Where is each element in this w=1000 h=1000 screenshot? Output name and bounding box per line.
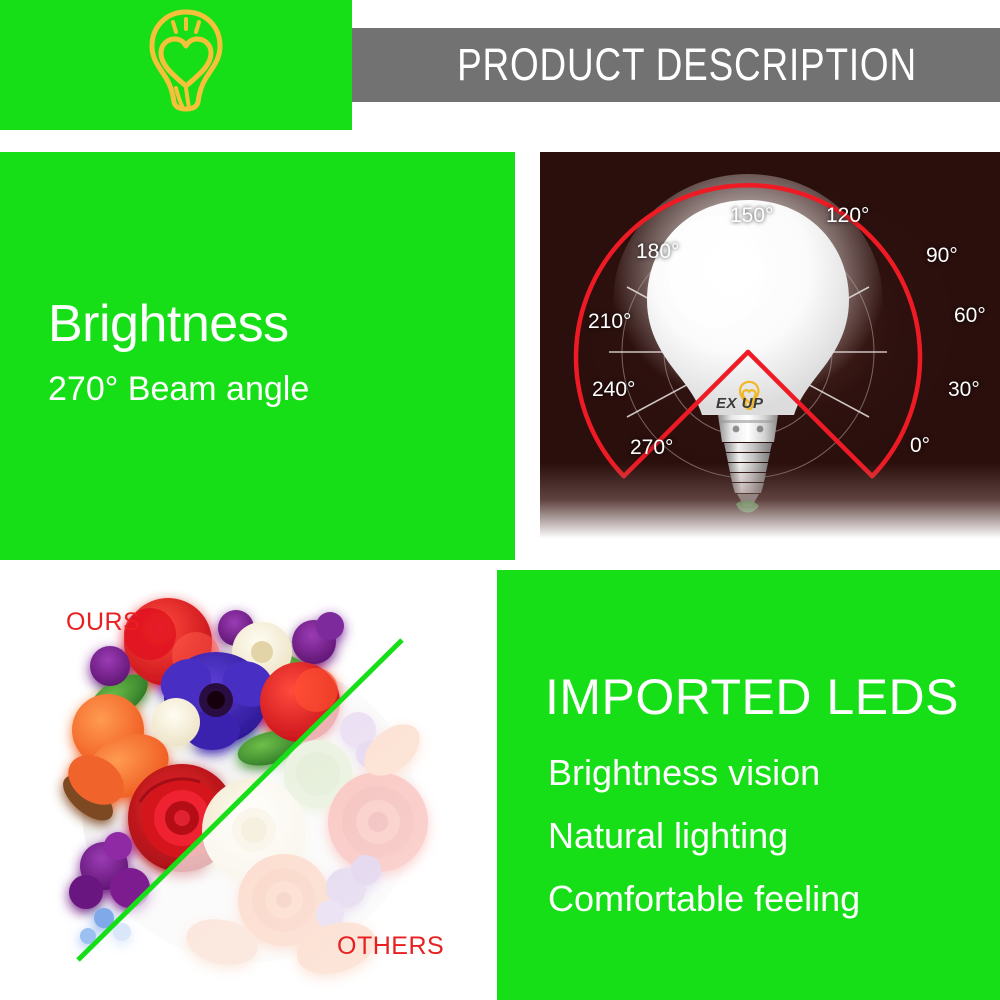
angle-label-120: 120° — [826, 204, 869, 228]
header-banner: PRODUCT DESCRIPTION — [352, 28, 1000, 102]
product-description-infographic: PRODUCT DESCRIPTION Brightness 270° Beam… — [0, 0, 1000, 1000]
angle-label-210: 210° — [588, 310, 631, 334]
angle-label-240: 240° — [592, 378, 635, 402]
heart-bulb-logo-icon — [128, 2, 244, 118]
angle-label-150: 150° — [730, 204, 773, 228]
brightness-subtitle: 270° Beam angle — [48, 372, 309, 406]
angle-label-30: 30° — [948, 378, 980, 402]
page-title: PRODUCT DESCRIPTION — [435, 39, 916, 91]
imported-leds-feature-1: Brightness vision — [548, 755, 820, 791]
angle-label-0: 0° — [910, 434, 930, 458]
label-others: OTHERS — [337, 932, 444, 961]
imported-leds-feature-3: Comfortable feeling — [548, 881, 860, 917]
angle-label-60: 60° — [954, 304, 986, 328]
beam-angle-diagram-panel: 0° 30° 60° 90° 120° 150° 180° 210° 240° … — [540, 152, 1000, 545]
angle-label-270: 270° — [630, 436, 673, 460]
label-ours: OURS — [66, 608, 140, 637]
brand-wordmark: EX UP — [716, 395, 764, 412]
imported-leds-feature-2: Natural lighting — [548, 818, 788, 854]
angle-label-180: 180° — [636, 240, 679, 264]
angle-label-90: 90° — [926, 244, 958, 268]
brightness-title: Brightness — [48, 298, 289, 350]
imported-leds-title: IMPORTED LEDS — [545, 672, 959, 722]
brightness-panel — [0, 152, 515, 560]
